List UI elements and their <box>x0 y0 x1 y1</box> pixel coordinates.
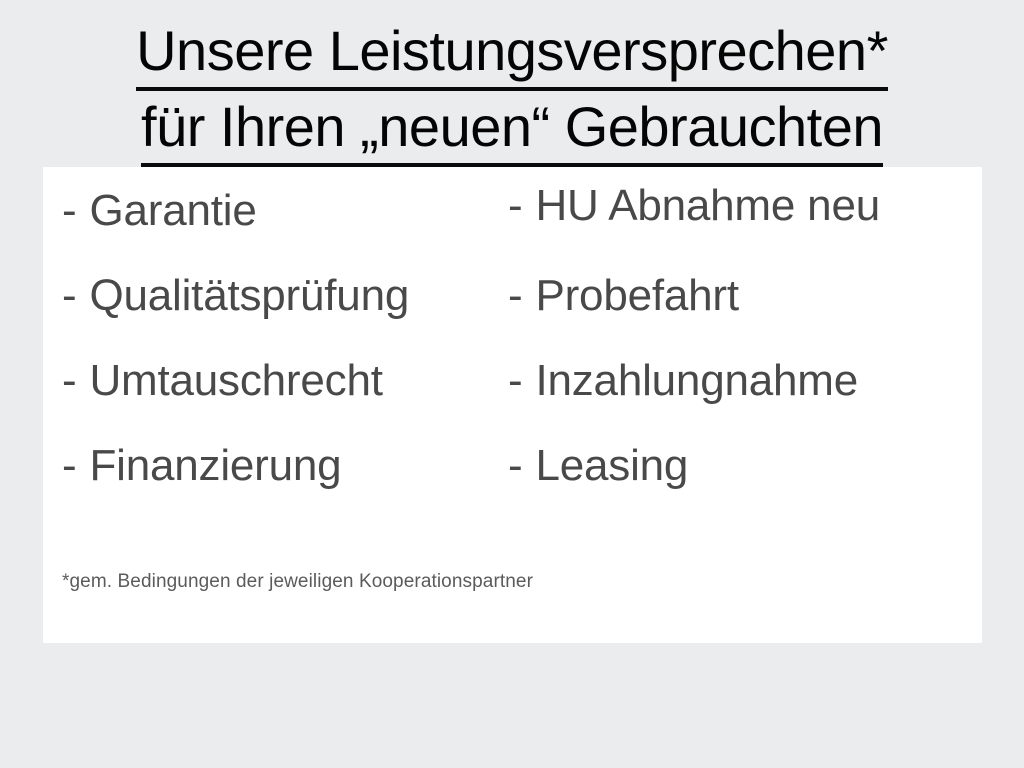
bullet-dash-icon: - <box>62 185 76 237</box>
promise-label: Umtauschrecht <box>89 355 382 407</box>
promise-label: Qualitätsprüfung <box>89 270 409 322</box>
promise-label: Finanzierung <box>89 440 341 492</box>
bullet-dash-icon: - <box>62 270 76 322</box>
promise-label: Leasing <box>535 440 688 492</box>
promise-slide: Unsere Leistungsversprechen* für Ihren „… <box>0 0 1024 768</box>
bullet-dash-icon: - <box>508 270 522 322</box>
list-item: - Garantie <box>62 185 257 237</box>
footnote-text: *gem. Bedingungen der jeweiligen Koopera… <box>62 570 533 594</box>
title-line-2: für Ihren „neuen“ Gebrauchten <box>141 92 883 167</box>
list-item: - Umtauschrecht <box>62 355 383 407</box>
promise-label: Garantie <box>89 185 256 237</box>
list-item: - Probefahrt <box>508 270 739 322</box>
list-item: - Qualitätsprüfung <box>62 270 409 322</box>
promise-label: Inzahlungnahme <box>535 355 858 407</box>
title-line-1: Unsere Leistungsversprechen* <box>136 16 888 91</box>
promises-columns: - Garantie - Qualitätsprüfung - Umtausch… <box>43 167 982 507</box>
promises-card: - Garantie - Qualitätsprüfung - Umtausch… <box>43 167 982 643</box>
list-item: - Inzahlungnahme <box>508 355 858 407</box>
list-item: - Leasing <box>508 440 688 492</box>
bullet-dash-icon: - <box>62 355 76 407</box>
slide-title: Unsere Leistungsversprechen* für Ihren „… <box>0 16 1024 167</box>
bullet-dash-icon: - <box>508 440 522 492</box>
list-item: - Finanzierung <box>62 440 341 492</box>
bullet-dash-icon: - <box>508 355 522 407</box>
bullet-dash-icon: - <box>62 440 76 492</box>
promise-label: HU Abnahme neu <box>535 180 880 232</box>
bullet-dash-icon: - <box>508 180 522 232</box>
promises-column-left: - Garantie - Qualitätsprüfung - Umtausch… <box>43 167 508 507</box>
promises-column-right: - HU Abnahme neu - Probefahrt - Inzahlun… <box>508 167 982 507</box>
list-item: - HU Abnahme neu <box>508 180 880 232</box>
promise-label: Probefahrt <box>535 270 738 322</box>
